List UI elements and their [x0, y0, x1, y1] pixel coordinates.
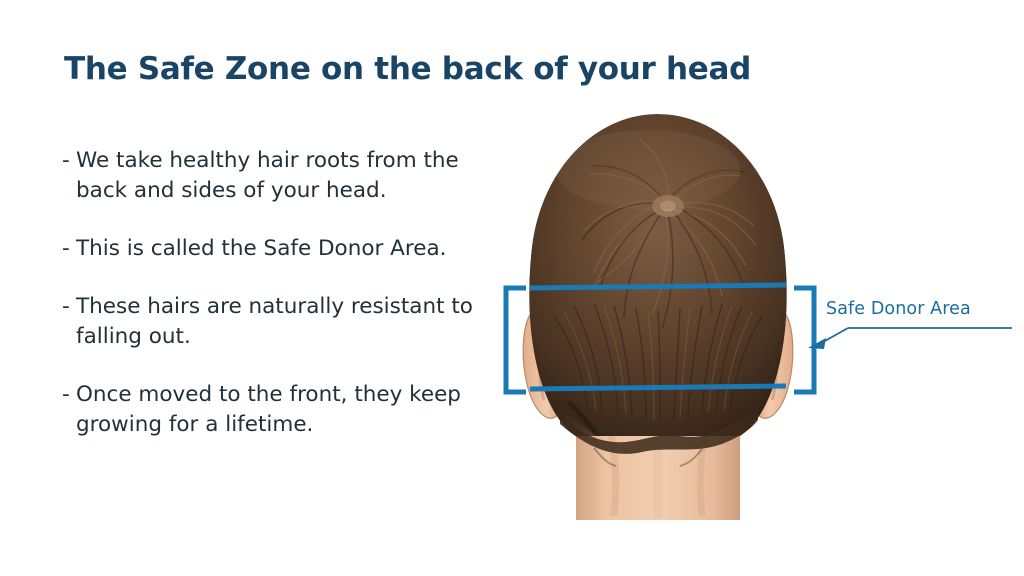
bullet-list: - We take healthy hair roots from the ba… [62, 146, 482, 468]
list-item: - This is called the Safe Donor Area. [62, 234, 482, 264]
bullet-marker-icon: - [62, 146, 76, 176]
page-title: The Safe Zone on the back of your head [64, 51, 884, 87]
bullet-marker-icon: - [62, 234, 76, 264]
slide-canvas: The Safe Zone on the back of your head -… [0, 0, 1024, 576]
bullet-marker-icon: - [62, 380, 76, 410]
list-item-text: This is called the Safe Donor Area. [76, 234, 482, 264]
list-item-text: We take healthy hair roots from the back… [76, 146, 482, 206]
bullet-marker-icon: - [62, 292, 76, 322]
head-photo [498, 106, 818, 526]
list-item-text: These hairs are naturally resistant to f… [76, 292, 482, 352]
list-item: - Once moved to the front, they keep gro… [62, 380, 482, 440]
safe-donor-area-label: Safe Donor Area [826, 299, 971, 319]
list-item: - These hairs are naturally resistant to… [62, 292, 482, 352]
list-item: - We take healthy hair roots from the ba… [62, 146, 482, 206]
list-item-text: Once moved to the front, they keep growi… [76, 380, 482, 440]
